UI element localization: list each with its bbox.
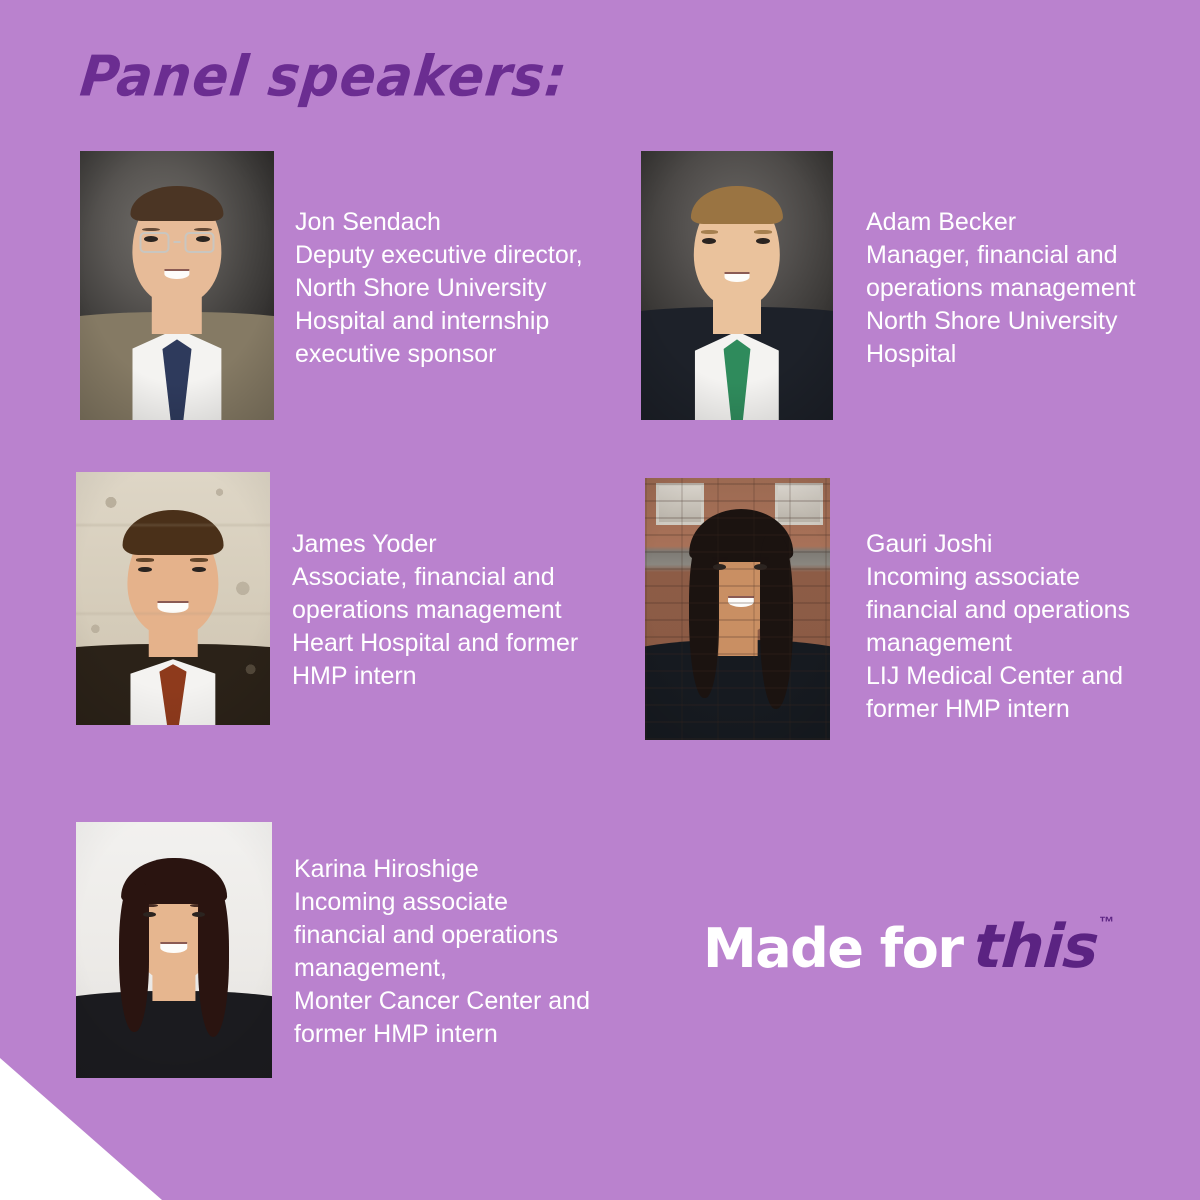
portrait-karina-hiroshige xyxy=(76,822,272,1078)
bio-line: Adam Becker xyxy=(866,206,1136,239)
bio-line: Hospital xyxy=(866,338,1136,371)
bio-line: operations management xyxy=(866,272,1136,305)
bio-line: Jon Sendach xyxy=(295,206,583,239)
bio-line: former HMP intern xyxy=(294,1018,590,1051)
bio-line: LIJ Medical Center and xyxy=(866,660,1130,693)
bio-line: Incoming associate xyxy=(294,886,590,919)
bio-line: executive sponsor xyxy=(295,338,583,371)
bio-line: North Shore University xyxy=(866,305,1136,338)
bio-line: Karina Hiroshige xyxy=(294,853,590,886)
bio-line: Deputy executive director, xyxy=(295,239,583,272)
bio-line: Incoming associate xyxy=(866,561,1130,594)
bio-line: financial and operations xyxy=(866,594,1130,627)
speaker-bio-1: Jon Sendach Deputy executive director, N… xyxy=(295,206,583,371)
bio-line: Gauri Joshi xyxy=(866,528,1130,561)
poster-canvas: Panel speakers: xyxy=(0,0,1200,1200)
bio-line: management xyxy=(866,627,1130,660)
speaker-bio-2: Adam Becker Manager, financial and opera… xyxy=(866,206,1136,371)
speaker-bio-3: James Yoder Associate, financial and ope… xyxy=(292,528,578,693)
bio-line: management, xyxy=(294,952,590,985)
logo-this-text: this xyxy=(972,912,1101,982)
made-for-this-logo: Made for this ™ xyxy=(703,912,1114,974)
page-title: Panel speakers: xyxy=(77,44,571,109)
speaker-bio-4: Gauri Joshi Incoming associate financial… xyxy=(866,528,1130,726)
portrait-jon-sendach xyxy=(80,151,274,420)
bio-line: former HMP intern xyxy=(866,693,1130,726)
portrait-adam-becker xyxy=(641,151,833,420)
bio-line: Heart Hospital and former xyxy=(292,627,578,660)
bio-line: Hospital and internship xyxy=(295,305,583,338)
bio-line: Monter Cancer Center and xyxy=(294,985,590,1018)
logo-made-for-text: Made for xyxy=(703,917,962,980)
bio-line: HMP intern xyxy=(292,660,578,693)
portrait-james-yoder xyxy=(76,472,270,725)
bio-line: financial and operations xyxy=(294,919,590,952)
speaker-bio-5: Karina Hiroshige Incoming associate fina… xyxy=(294,853,590,1051)
bio-line: operations management xyxy=(292,594,578,627)
bio-line: North Shore University xyxy=(295,272,583,305)
bio-line: Manager, financial and xyxy=(866,239,1136,272)
corner-triangle-decoration xyxy=(0,1058,162,1200)
portrait-gauri-joshi xyxy=(645,478,830,740)
bio-line: James Yoder xyxy=(292,528,578,561)
bio-line: Associate, financial and xyxy=(292,561,578,594)
trademark-symbol: ™ xyxy=(1099,914,1114,931)
